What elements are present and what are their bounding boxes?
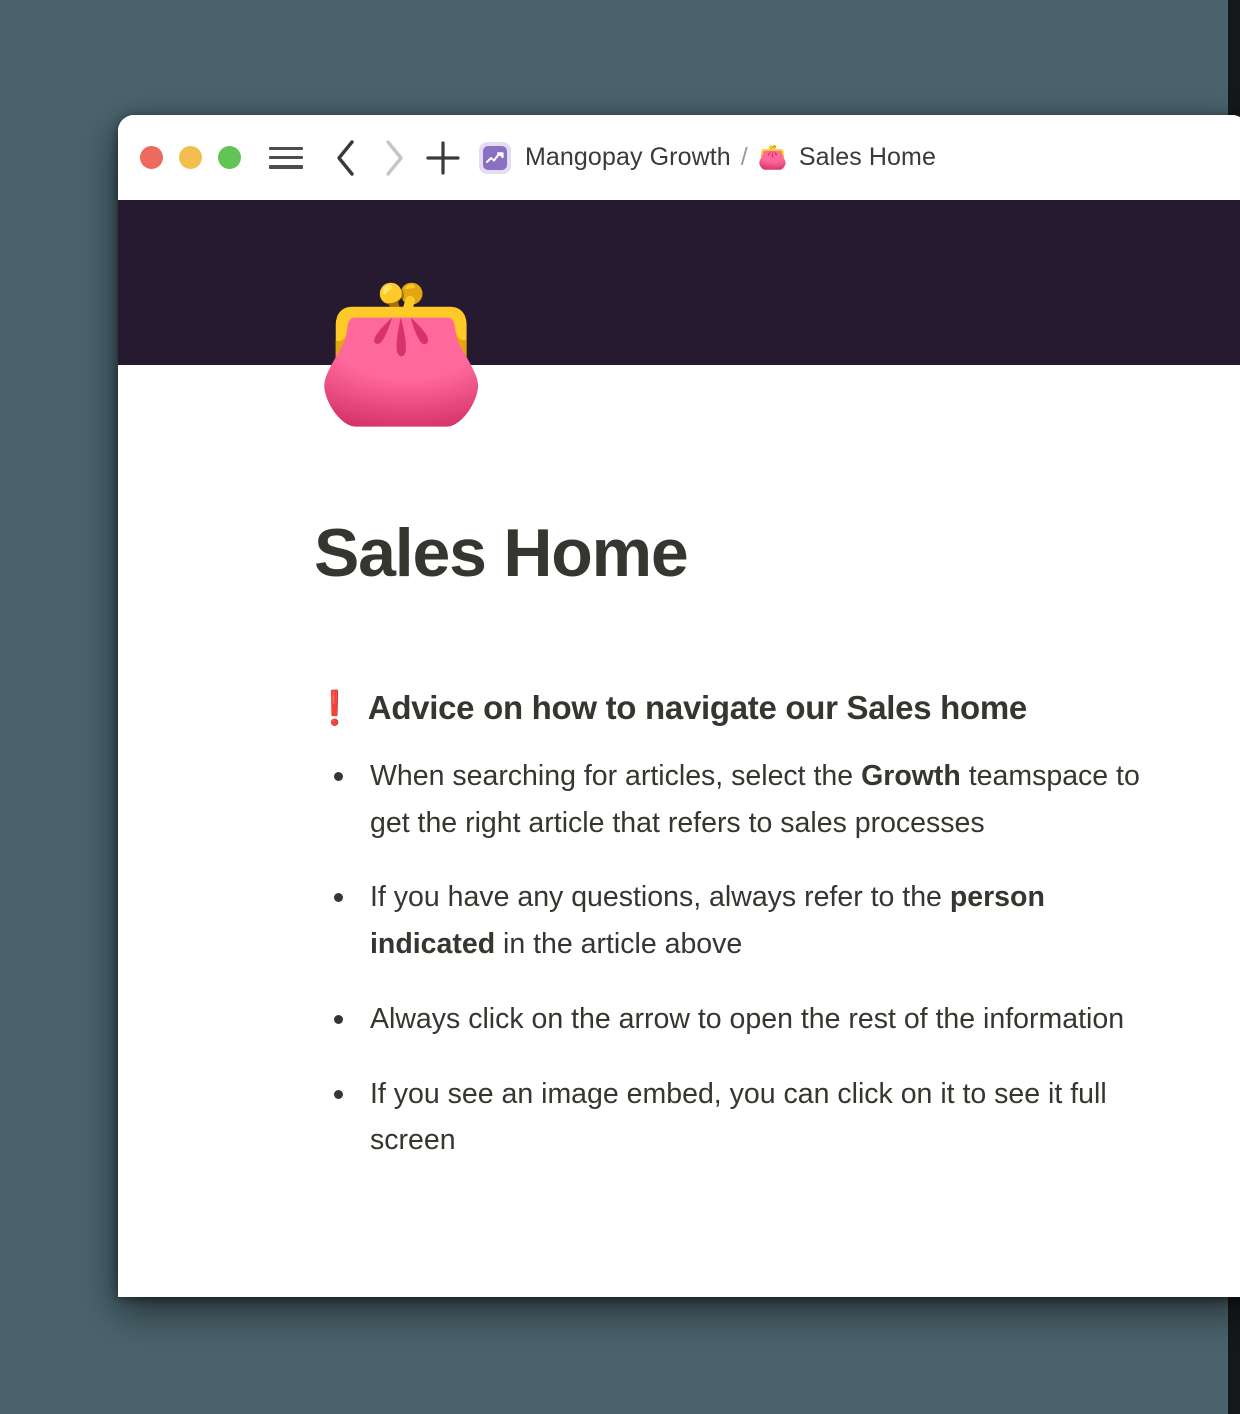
page-content: Sales Home ❗ Advice on how to navigate o… [118,365,1240,1164]
advice-heading-text: Advice on how to navigate our Sales home [368,689,1027,727]
list-item-text: in the article above [495,928,742,960]
list-item[interactable]: If you see an image embed, you can click… [314,1071,1154,1164]
list-item[interactable]: If you have any questions, always refer … [314,874,1154,967]
traffic-lights [140,146,241,169]
chevron-left-icon[interactable] [329,138,363,178]
maximize-button[interactable] [218,146,241,169]
breadcrumb-page[interactable]: Sales Home [799,143,936,172]
list-item-bold-text: Growth [861,760,961,792]
list-item-text: When searching for articles, select the [370,760,861,792]
bullet-dot [334,893,343,902]
list-item[interactable]: When searching for articles, select the … [314,753,1154,846]
page-cover[interactable] [118,200,1240,365]
minimize-button[interactable] [179,146,202,169]
window-titlebar: Mangopay Growth / 👛 Sales Home [118,115,1240,200]
list-item-text: If you see an image embed, you can click… [370,1078,1107,1157]
exclamation-icon: ❗ [314,689,355,728]
list-item-text: If you have any questions, always refer … [370,881,950,913]
advice-heading[interactable]: ❗ Advice on how to navigate our Sales ho… [314,689,1240,728]
advice-bullet-list: When searching for articles, select the … [314,753,1240,1164]
page-icon-purse[interactable]: 👛 [314,281,488,421]
bullet-dot [334,772,343,781]
bullet-dot [334,1015,343,1024]
bullet-dot [334,1090,343,1099]
hamburger-line [269,165,303,169]
hamburger-line [269,147,303,151]
chart-line-icon[interactable] [479,142,511,174]
breadcrumb-teamspace[interactable]: Mangopay Growth [525,143,731,172]
breadcrumb-separator: / [741,143,748,172]
hamburger-icon[interactable] [269,145,303,171]
list-item[interactable]: Always click on the arrow to open the re… [314,996,1154,1043]
plus-icon[interactable] [425,140,461,176]
app-window: Mangopay Growth / 👛 Sales Home 👛 Sales H… [118,115,1240,1297]
list-item-text: Always click on the arrow to open the re… [370,1003,1124,1035]
close-button[interactable] [140,146,163,169]
breadcrumb: Mangopay Growth / 👛 Sales Home [479,142,936,174]
purse-icon: 👛 [758,146,788,170]
hamburger-line [269,156,303,160]
chart-line-icon-inner [483,146,507,170]
page-body: 👛 Sales Home ❗ Advice on how to navigate… [118,365,1240,1164]
chevron-right-icon[interactable] [377,138,411,178]
